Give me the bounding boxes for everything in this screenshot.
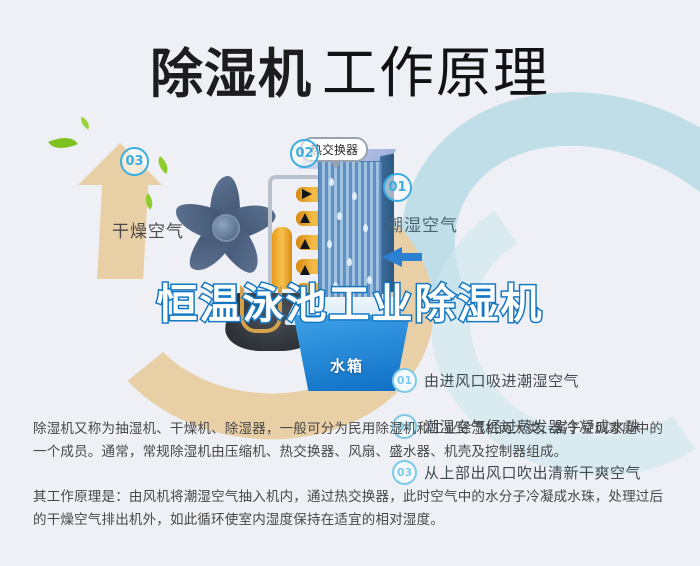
- description-paragraph-1: 除湿机又称为抽湿机、干燥机、除湿器，一般可分为民用除湿机和工业除湿机两大类，属于…: [33, 418, 673, 464]
- diagram-stage: 干燥空气: [0, 125, 700, 410]
- flow-arrow-up-icon: [300, 239, 310, 249]
- page-title-part1: 除湿机: [150, 44, 312, 105]
- legend-item: 01 由进风口吸进潮湿空气: [392, 368, 692, 393]
- flow-arrow-right-icon: [302, 189, 312, 199]
- air-inlet-arrow-tail: [400, 253, 422, 261]
- diagram-badge-01: 01: [383, 173, 412, 202]
- legend-badge: 01: [392, 368, 417, 393]
- water-droplet-icon: [363, 224, 368, 232]
- water-droplet-icon: [352, 192, 357, 200]
- description-block: 除湿机又称为抽湿机、干燥机、除湿器，一般可分为民用除湿机和工业除湿机两大类，属于…: [33, 418, 673, 554]
- heat-exchanger-block: [318, 161, 394, 303]
- diagram-badge-02: 02: [290, 139, 319, 168]
- fan-hub: [212, 214, 240, 242]
- diagram-badge-03: 03: [120, 147, 149, 176]
- fan-illustration: [168, 170, 280, 282]
- heat-exchanger-fins: [318, 161, 382, 301]
- water-droplet-icon: [337, 212, 342, 220]
- water-droplet-icon: [327, 240, 332, 248]
- water-droplet-icon: [347, 258, 352, 266]
- water-droplet-icon: [367, 276, 372, 284]
- water-droplet-icon: [333, 282, 338, 290]
- page-root: 除湿机工作原理 干燥空气: [0, 0, 700, 566]
- description-paragraph-2: 其工作原理是：由风机将潮湿空气抽入机内，通过热交换器，此时空气中的水分子冷凝成水…: [33, 486, 673, 532]
- humid-air-label: 潮湿空气: [386, 211, 458, 236]
- air-inlet-arrow-icon: [382, 247, 402, 267]
- leaf-icon: [48, 131, 77, 154]
- leaf-icon: [78, 117, 92, 130]
- legend-text: 由进风口吸进潮湿空气: [424, 370, 579, 391]
- drain-pipe: [240, 285, 282, 333]
- flow-arrow-up-icon: [300, 265, 310, 275]
- water-tank-label: 水箱: [330, 355, 364, 376]
- compressor-cylinder: [272, 227, 292, 289]
- water-droplet-icon: [329, 178, 334, 186]
- page-title-part2: 工作原理: [322, 41, 550, 105]
- flow-arrow-up-icon: [300, 213, 310, 223]
